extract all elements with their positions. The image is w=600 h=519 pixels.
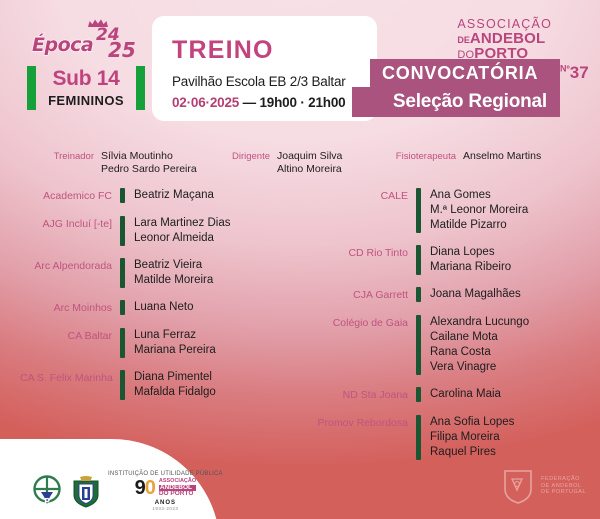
- fap-shield-icon: [501, 467, 535, 505]
- convocatoria-number-value: 37: [570, 63, 589, 82]
- player-name: Diana Lopes: [430, 245, 511, 260]
- selecao-banner: Seleção Regional: [352, 87, 560, 117]
- footer-logos: P INSTITUIÇÃO DE UTILIDADE PÚBLICA 90 AS…: [30, 471, 223, 511]
- staff-fisioterapeuta: Fisioterapeuta Anselmo Martins: [390, 150, 541, 163]
- club-row: Arc MoinhosLuana Neto: [20, 300, 270, 316]
- club-row: CD Rio TintoDiana LopesMariana Ribeiro: [310, 245, 560, 275]
- mini-org-line-3: DO PORTO: [159, 491, 196, 498]
- club-name: Arc Moinhos: [20, 300, 120, 316]
- green-bar-left: [27, 66, 36, 110]
- event-dash: —: [243, 95, 256, 110]
- player-name: Beatriz Vieira: [134, 258, 213, 273]
- staff-name: Pedro Sardo Pereira: [101, 163, 197, 176]
- event-datetime: 02·06·2025 — 19h00 · 21h00: [172, 95, 345, 110]
- anniversary-years: 1933-2023: [152, 506, 178, 511]
- event-venue: Pavilhão Escola EB 2/3 Baltar: [172, 74, 346, 89]
- player-name: Beatriz Maçana: [134, 188, 214, 203]
- selecao-label: Seleção Regional: [393, 91, 547, 113]
- staff-treinador: Treinador Sílvia Moutinho Pedro Sardo Pe…: [42, 150, 197, 176]
- player-name: Ana Sofia Lopes: [430, 415, 514, 430]
- player-name: Cailane Mota: [430, 330, 529, 345]
- staff-role-label: Treinador: [42, 150, 94, 176]
- porto-crest-icon: [71, 474, 101, 508]
- club-row: CA BaltarLuna FerrazMariana Pereira: [20, 328, 270, 358]
- fap-watermark-line-2: DE ANDEBOL: [541, 483, 586, 490]
- player-list: Alexandra LucungoCailane MotaRana CostaV…: [421, 315, 529, 375]
- clubs-column-left: Academico FCBeatriz MaçanaAJG Incluí [-t…: [20, 188, 270, 412]
- club-row: ND Sta JoanaCarolina Maia: [310, 387, 560, 403]
- staff-names: Joaquim Silva Altino Moreira: [277, 150, 342, 176]
- player-list: Diana PimentelMafalda Fidalgo: [125, 370, 216, 400]
- player-name: Luna Ferraz: [134, 328, 216, 343]
- player-name: Diana Pimentel: [134, 370, 216, 385]
- convocatoria-number: Nº37: [560, 63, 589, 83]
- staff-name: Joaquim Silva: [277, 150, 342, 163]
- player-name: Matilde Moreira: [134, 273, 213, 288]
- season-category-block: Época 24 25 Sub 14 FEMININOS: [26, 18, 146, 110]
- player-list: Diana LopesMariana Ribeiro: [421, 245, 511, 275]
- event-info-card: TREINO Pavilhão Escola EB 2/3 Baltar 02·…: [152, 16, 377, 121]
- convocatoria-banner: CONVOCATÓRIA: [370, 59, 560, 87]
- aap-shield-icon: P: [30, 474, 64, 508]
- player-name: Filipa Moreira: [430, 430, 514, 445]
- staff-names: Anselmo Martins: [463, 150, 541, 163]
- club-name: ND Sta Joana: [310, 387, 416, 403]
- player-name: Alexandra Lucungo: [430, 315, 529, 330]
- association-wordmark: ASSOCIAÇÃO DEANDEBOL DOPORTO: [457, 18, 552, 61]
- club-row: CA S. Felix MarinhaDiana PimentelMafalda…: [20, 370, 270, 400]
- category-gender: FEMININOS: [48, 93, 124, 108]
- club-name: CALE: [310, 188, 416, 204]
- player-list: Beatriz Maçana: [125, 188, 214, 203]
- staff-role-label: Dirigente: [228, 150, 270, 176]
- club-name: AJG Incluí [-te]: [20, 216, 120, 232]
- staff-names: Sílvia Moutinho Pedro Sardo Pereira: [101, 150, 197, 176]
- clubs-column-right: CALEAna GomesM.ª Leonor MoreiraMatilde P…: [310, 188, 560, 472]
- player-name: Leonor Almeida: [134, 231, 231, 246]
- svg-text:P: P: [44, 497, 50, 506]
- club-name: Arc Alpendorada: [20, 258, 120, 274]
- player-list: Luna FerrazMariana Pereira: [125, 328, 216, 358]
- player-name: Vera Vinagre: [430, 360, 529, 375]
- club-name: CA Baltar: [20, 328, 120, 344]
- fap-watermark-line-1: FEDERAÇÃO: [541, 476, 586, 483]
- club-row: CJA GarrettJoana Magalhães: [310, 287, 560, 303]
- aap-mini-wordmark: ASSOCIAÇÃO ANDEBOL DO PORTO: [159, 479, 196, 498]
- player-list: Lara Martinez DiasLeonor Almeida: [125, 216, 231, 246]
- convocatoria-poster: Época 24 25 Sub 14 FEMININOS TREINO Pavi…: [0, 0, 600, 519]
- player-name: Ana Gomes: [430, 188, 528, 203]
- staff-name: Anselmo Martins: [463, 150, 541, 163]
- player-list: Carolina Maia: [421, 387, 501, 402]
- staff-name: Altino Moreira: [277, 163, 342, 176]
- fap-watermark: FEDERAÇÃO DE ANDEBOL DE PORTUGAL: [501, 467, 586, 505]
- staff-role-label: Fisioterapeuta: [390, 150, 456, 163]
- club-row: Colégio de GaiaAlexandra LucungoCailane …: [310, 315, 560, 375]
- anniversary-logo: INSTITUIÇÃO DE UTILIDADE PÚBLICA 90 ASSO…: [108, 471, 223, 511]
- epoca-logo: Época 24 25: [26, 18, 146, 64]
- event-type-title: TREINO: [172, 36, 274, 65]
- club-name: Promov Rebordosa: [310, 415, 416, 431]
- player-name: Mafalda Fidalgo: [134, 385, 216, 400]
- club-row: Arc AlpendoradaBeatriz VieiraMatilde Mor…: [20, 258, 270, 288]
- player-name: Carolina Maia: [430, 387, 501, 402]
- club-name: Academico FC: [20, 188, 120, 204]
- event-date: 02·06·2025: [172, 95, 239, 110]
- club-name: Colégio de Gaia: [310, 315, 416, 331]
- player-list: Ana GomesM.ª Leonor MoreiraMatilde Pizar…: [421, 188, 528, 233]
- player-list: Luana Neto: [125, 300, 193, 315]
- convocatoria-number-prefix: Nº: [560, 63, 570, 73]
- player-name: Mariana Ribeiro: [430, 260, 511, 275]
- green-bar-right: [136, 66, 145, 110]
- club-row: AJG Incluí [-te]Lara Martinez DiasLeonor…: [20, 216, 270, 246]
- club-name: CA S. Felix Marinha: [20, 370, 120, 386]
- club-name: CD Rio Tinto: [310, 245, 416, 261]
- staff-row: Treinador Sílvia Moutinho Pedro Sardo Pe…: [0, 150, 600, 184]
- player-name: Raquel Pires: [430, 445, 514, 460]
- fap-watermark-line-3: DE PORTUGAL: [541, 489, 586, 496]
- convocatoria-label: CONVOCATÓRIA: [382, 63, 538, 84]
- anniversary-number: 90: [135, 477, 155, 500]
- player-name: Luana Neto: [134, 300, 193, 315]
- player-name: Joana Magalhães: [430, 287, 521, 302]
- epoca-year-bottom: 25: [108, 38, 136, 62]
- club-row: Academico FCBeatriz Maçana: [20, 188, 270, 204]
- player-list: Beatriz VieiraMatilde Moreira: [125, 258, 213, 288]
- org-line-2: DEANDEBOL: [457, 31, 552, 46]
- club-row: Promov RebordosaAna Sofia LopesFilipa Mo…: [310, 415, 560, 460]
- staff-name: Sílvia Moutinho: [101, 150, 197, 163]
- player-name: M.ª Leonor Moreira: [430, 203, 528, 218]
- epoca-word: Época: [32, 34, 93, 56]
- club-row: CALEAna GomesM.ª Leonor MoreiraMatilde P…: [310, 188, 560, 233]
- category-row: Sub 14 FEMININOS: [26, 66, 146, 110]
- player-list: Joana Magalhães: [421, 287, 521, 302]
- org-line-2-prefix: DE: [457, 35, 470, 45]
- player-name: Lara Martinez Dias: [134, 216, 231, 231]
- player-name: Rana Costa: [430, 345, 529, 360]
- category-title: Sub 14: [48, 68, 124, 90]
- player-name: Matilde Pizarro: [430, 218, 528, 233]
- player-list: Ana Sofia LopesFilipa MoreiraRaquel Pire…: [421, 415, 514, 460]
- event-hours: 19h00 · 21h00: [260, 95, 346, 110]
- club-name: CJA Garrett: [310, 287, 416, 303]
- staff-dirigente: Dirigente Joaquim Silva Altino Moreira: [228, 150, 342, 176]
- player-name: Mariana Pereira: [134, 343, 216, 358]
